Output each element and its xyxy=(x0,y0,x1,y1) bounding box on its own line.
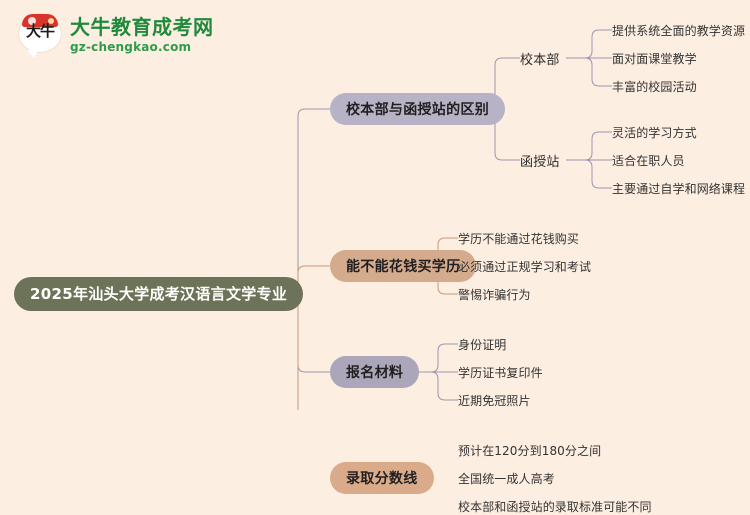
branch-node-4-label: 录取分数线 xyxy=(346,468,418,488)
leaf-node-1-2-2[interactable]: 适合在职人员 xyxy=(612,151,685,169)
leaf-node-1-1-2-label: 面对面课堂教学 xyxy=(612,50,697,67)
leaf-node-3-1-label: 身份证明 xyxy=(458,336,506,353)
leaf-node-1-2-3[interactable]: 主要通过自学和网络课程 xyxy=(612,179,745,197)
branch-node-2-label: 能不能花钱买学历 xyxy=(346,256,460,276)
leaf-node-2-3-label: 警惕诈骗行为 xyxy=(458,286,531,303)
leaf-node-1-1-3[interactable]: 丰富的校园活动 xyxy=(612,77,697,95)
branch-node-2[interactable]: 能不能花钱买学历 xyxy=(330,250,476,282)
leaf-node-2-2-label: 必须通过正规学习和考试 xyxy=(458,258,591,275)
branch-node-3-label: 报名材料 xyxy=(346,362,403,382)
leaf-node-3-2[interactable]: 学历证书复印件 xyxy=(458,363,543,381)
branch-node-1-label: 校本部与函授站的区别 xyxy=(346,99,489,119)
leaf-node-3-2-label: 学历证书复印件 xyxy=(458,364,543,381)
leaf-node-4-1-label: 预计在120分到180分之间 xyxy=(458,442,601,459)
leaf-node-3-1[interactable]: 身份证明 xyxy=(458,335,506,353)
leaf-node-1-2-1-label: 灵活的学习方式 xyxy=(612,124,697,141)
leaf-node-4-2[interactable]: 全国统一成人高考 xyxy=(458,469,555,487)
leaf-node-2-3[interactable]: 警惕诈骗行为 xyxy=(458,285,531,303)
leaf-node-2-1-label: 学历不能通过花钱购买 xyxy=(458,230,579,247)
sub-node-1-2-label: 函授站 xyxy=(520,151,560,170)
sub-node-1-2[interactable]: 函授站 xyxy=(520,150,560,170)
branch-node-1[interactable]: 校本部与函授站的区别 xyxy=(330,93,505,125)
leaf-node-2-2[interactable]: 必须通过正规学习和考试 xyxy=(458,257,591,275)
sub-node-1-1[interactable]: 校本部 xyxy=(520,48,560,68)
root-node[interactable]: 2025年汕头大学成考汉语言文学专业 xyxy=(14,277,303,311)
leaf-node-1-1-2[interactable]: 面对面课堂教学 xyxy=(612,49,697,67)
leaf-node-1-2-2-label: 适合在职人员 xyxy=(612,152,685,169)
leaf-node-1-2-3-label: 主要通过自学和网络课程 xyxy=(612,180,745,197)
leaf-node-3-3[interactable]: 近期免冠照片 xyxy=(458,391,531,409)
branch-node-3[interactable]: 报名材料 xyxy=(330,356,419,388)
mindmap-canvas: 2025年汕头大学成考汉语言文学专业校本部与函授站的区别校本部提供系统全面的教学… xyxy=(0,0,750,410)
leaf-node-4-3-label: 校本部和函授站的录取标准可能不同 xyxy=(458,498,652,515)
root-node-label: 2025年汕头大学成考汉语言文学专业 xyxy=(30,283,287,304)
leaf-node-4-2-label: 全国统一成人高考 xyxy=(458,470,555,487)
leaf-node-4-3[interactable]: 校本部和函授站的录取标准可能不同 xyxy=(458,497,652,515)
leaf-node-4-1[interactable]: 预计在120分到180分之间 xyxy=(458,441,601,459)
leaf-node-1-1-3-label: 丰富的校园活动 xyxy=(612,78,697,95)
leaf-node-1-1-1-label: 提供系统全面的教学资源 xyxy=(612,22,745,39)
leaf-node-1-1-1[interactable]: 提供系统全面的教学资源 xyxy=(612,21,745,39)
leaf-node-2-1[interactable]: 学历不能通过花钱购买 xyxy=(458,229,579,247)
branch-node-4[interactable]: 录取分数线 xyxy=(330,462,434,494)
leaf-node-3-3-label: 近期免冠照片 xyxy=(458,392,531,409)
leaf-node-1-2-1[interactable]: 灵活的学习方式 xyxy=(612,123,697,141)
sub-node-1-1-label: 校本部 xyxy=(520,49,560,68)
